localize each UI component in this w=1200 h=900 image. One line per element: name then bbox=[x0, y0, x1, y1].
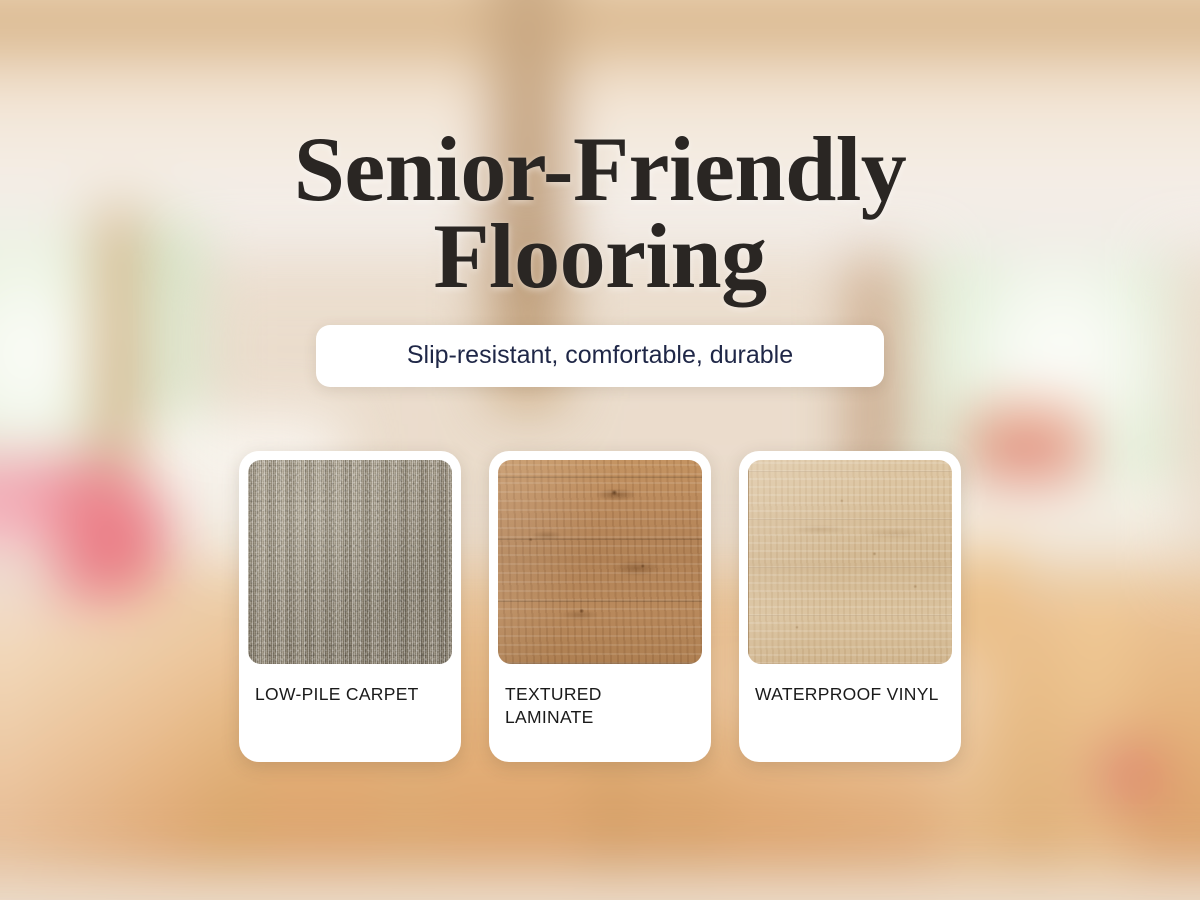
subtitle-pill: Slip-resistant, comfortable, durable bbox=[316, 325, 884, 387]
flooring-card-low-pile-carpet[interactable]: LOW-PILE CARPET bbox=[239, 451, 461, 762]
flooring-card-body: WATERPROOF VINYL bbox=[748, 664, 952, 762]
page-title: Senior-Friendly Flooring bbox=[170, 126, 1030, 301]
flooring-card-body: TEXTURED LAMINATE bbox=[498, 664, 702, 762]
flooring-card-body: LOW-PILE CARPET bbox=[248, 664, 452, 762]
textured-laminate-swatch bbox=[498, 460, 702, 664]
poster-canvas: Senior-Friendly Flooring Slip-resistant,… bbox=[0, 0, 1200, 900]
poster-content: Senior-Friendly Flooring Slip-resistant,… bbox=[0, 0, 1200, 900]
flooring-card-list: LOW-PILE CARPET TEXTURED LAMINATE WATERP… bbox=[239, 451, 961, 762]
subtitle-text: Slip-resistant, comfortable, durable bbox=[407, 341, 793, 370]
waterproof-vinyl-swatch bbox=[748, 460, 952, 664]
flooring-card-label: LOW-PILE CARPET bbox=[248, 664, 452, 707]
low-pile-carpet-swatch bbox=[248, 460, 452, 664]
flooring-card-label: WATERPROOF VINYL bbox=[748, 664, 952, 707]
flooring-card-textured-laminate[interactable]: TEXTURED LAMINATE bbox=[489, 451, 711, 762]
flooring-card-waterproof-vinyl[interactable]: WATERPROOF VINYL bbox=[739, 451, 961, 762]
flooring-card-label: TEXTURED LAMINATE bbox=[498, 664, 702, 730]
page-title-line-2: Flooring bbox=[170, 213, 1030, 300]
